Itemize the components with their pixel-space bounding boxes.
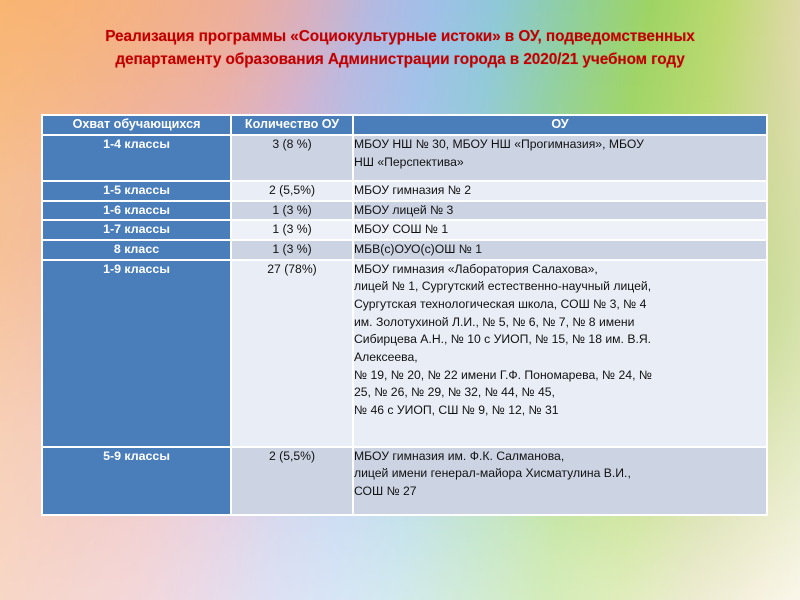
school-line: СОШ № 27 [354,483,766,501]
cell-count: 2 (5,5%) [232,182,352,200]
school-line: НШ «Перспектива» [354,154,766,172]
cell-schools: МБОУ гимназия «Лаборатория Салахова»,лиц… [354,261,766,446]
cell-schools: МБОУ НШ № 30, МБОУ НШ «Прогимназия», МБО… [354,136,766,180]
cell-grades: 1-4 классы [43,136,230,180]
column-header-schools: ОУ [354,116,766,134]
cell-count: 3 (8 %) [232,136,352,180]
table-row: 1-9 классы27 (78%)МБОУ гимназия «Лаборат… [43,261,766,446]
school-line: Сибирцева А.Н., № 10 с УИОП, № 15, № 18 … [354,331,766,349]
coverage-table: Охват обучающихся Количество ОУ ОУ 1-4 к… [41,114,768,516]
cell-count: 1 (3 %) [232,202,352,220]
column-header-grades: Охват обучающихся [43,116,230,134]
cell-grades: 1-5 классы [43,182,230,200]
cell-schools: МБВ(с)ОУО(с)ОШ № 1 [354,241,766,259]
school-line: Сургутская технологическая школа, СОШ № … [354,296,766,314]
school-line: № 19, № 20, № 22 имени Г.Ф. Пономарева, … [354,367,766,385]
table-header-row: Охват обучающихся Количество ОУ ОУ [43,116,766,134]
slide-title-line-1: Реализация программы «Социокультурные ис… [42,26,758,49]
cell-count: 1 (3 %) [232,221,352,239]
school-line: МБОУ гимназия «Лаборатория Салахова», [354,261,766,279]
slide-title-line-2: департаменту образования Администрации г… [42,49,758,72]
table-row: 1-6 классы1 (3 %)МБОУ лицей № 3 [43,202,766,220]
cell-schools: МБОУ гимназия № 2 [354,182,766,200]
school-line: МБОУ гимназия им. Ф.К. Салманова, [354,448,766,466]
school-line: 25, № 26, № 29, № 32, № 44, № 45, [354,384,766,402]
school-line: им. Золотухиной Л.И., № 5, № 6, № 7, № 8… [354,314,766,332]
school-line: МБОУ лицей № 3 [354,202,766,220]
cell-count: 1 (3 %) [232,241,352,259]
school-line: МБОУ гимназия № 2 [354,182,766,200]
cell-grades: 5-9 классы [43,448,230,514]
cell-schools: МБОУ гимназия им. Ф.К. Салманова,лицей и… [354,448,766,514]
table-row: 8 класс1 (3 %)МБВ(с)ОУО(с)ОШ № 1 [43,241,766,259]
school-line: Алексеева, [354,349,766,367]
table-row: 1-7 классы1 (3 %)МБОУ СОШ № 1 [43,221,766,239]
table-row: 1-4 классы3 (8 %)МБОУ НШ № 30, МБОУ НШ «… [43,136,766,180]
school-line: лицей № 1, Сургутский естественно-научны… [354,278,766,296]
slide-title: Реализация программы «Социокультурные ис… [42,26,758,71]
table-body: 1-4 классы3 (8 %)МБОУ НШ № 30, МБОУ НШ «… [43,136,766,514]
cell-count: 27 (78%) [232,261,352,446]
cell-grades: 1-7 классы [43,221,230,239]
school-line: лицей имени генерал-майора Хисматулина В… [354,465,766,483]
table-row: 1-5 классы2 (5,5%)МБОУ гимназия № 2 [43,182,766,200]
cell-grades: 8 класс [43,241,230,259]
school-line: № 46 с УИОП, СШ № 9, № 12, № 31 [354,402,766,420]
cell-schools: МБОУ лицей № 3 [354,202,766,220]
cell-schools: МБОУ СОШ № 1 [354,221,766,239]
table-container: Охват обучающихся Количество ОУ ОУ 1-4 к… [41,114,768,516]
school-line: МБОУ НШ № 30, МБОУ НШ «Прогимназия», МБО… [354,136,766,154]
cell-grades: 1-6 классы [43,202,230,220]
school-line: МБОУ СОШ № 1 [354,221,766,239]
slide-canvas: Реализация программы «Социокультурные ис… [0,0,800,600]
table-row: 5-9 классы2 (5,5%)МБОУ гимназия им. Ф.К.… [43,448,766,514]
school-line: МБВ(с)ОУО(с)ОШ № 1 [354,241,766,259]
cell-grades: 1-9 классы [43,261,230,446]
cell-count: 2 (5,5%) [232,448,352,514]
column-header-count: Количество ОУ [232,116,352,134]
